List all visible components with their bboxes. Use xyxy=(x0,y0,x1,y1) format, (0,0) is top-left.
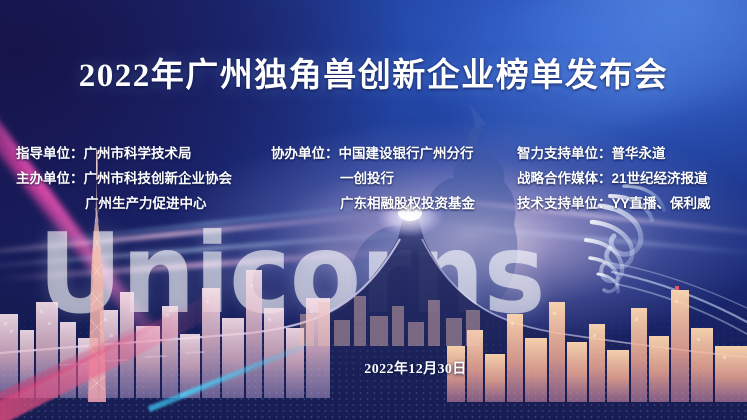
sponsor-column-middle: 协办单位：中国建设银行广州分行 一创投行 广东相融股权投资基金 xyxy=(271,141,475,216)
guangzhou-skyline-right xyxy=(447,242,747,402)
sponsor-row: 广州生产力促进中心 xyxy=(16,191,232,216)
sponsor-column-left: 指导单位：广州市科学技术局 主办单位：广州市科技创新企业协会 广州生产力促进中心 xyxy=(16,141,232,216)
sponsor-column-right: 智力支持单位：普华永道 战略合作媒体：21世纪经济报道 技术支持单位：YY直播、… xyxy=(517,141,711,216)
sponsor-row: 智力支持单位：普华永道 xyxy=(517,141,711,166)
sponsor-row: 广东相融股权投资基金 xyxy=(271,191,475,216)
event-poster: Unicorns xyxy=(0,0,747,420)
sponsor-row: 技术支持单位：YY直播、保利威 xyxy=(517,191,711,216)
sponsor-row: 协办单位：中国建设银行广州分行 xyxy=(271,141,475,166)
event-date: 2022年12月30日 xyxy=(0,358,747,378)
skyline-midground xyxy=(300,276,480,346)
poster-title: 2022年广州独角兽创新企业榜单发布会 xyxy=(0,48,747,96)
event-date-text: 2022年12月30日 xyxy=(364,358,466,378)
sponsor-row: 指导单位：广州市科学技术局 xyxy=(16,141,232,166)
sponsor-row: 一创投行 xyxy=(271,166,475,191)
sponsor-row: 战略合作媒体：21世纪经济报道 xyxy=(517,166,711,191)
sponsor-list: 指导单位：广州市科学技术局 主办单位：广州市科技创新企业协会 广州生产力促进中心… xyxy=(0,141,747,219)
sponsor-row: 主办单位：广州市科技创新企业协会 xyxy=(16,166,232,191)
